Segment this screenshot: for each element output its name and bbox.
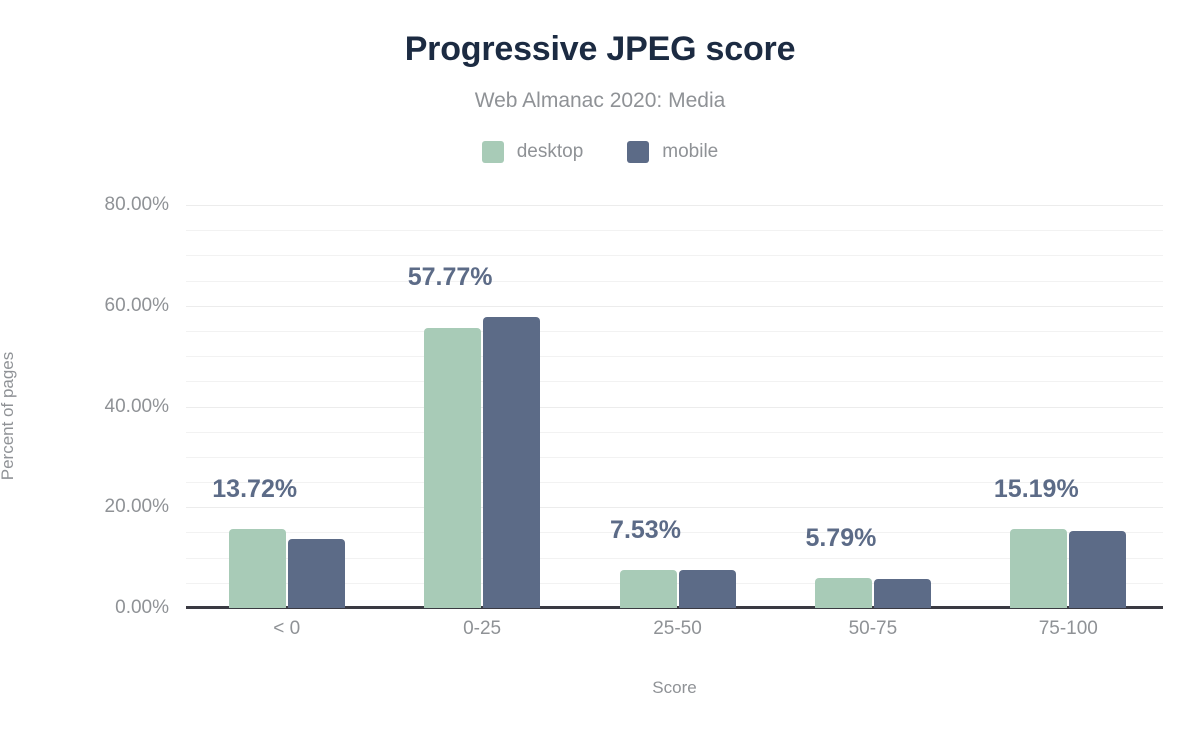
bars-layer bbox=[186, 205, 1163, 608]
y-axis-tick-label: 0.00% bbox=[0, 597, 169, 619]
legend-swatch-desktop bbox=[482, 141, 504, 163]
data-label-025: 57.77% bbox=[340, 263, 560, 292]
x-axis-tick-label: 50-75 bbox=[783, 618, 963, 640]
x-axis-tick-label: 75-100 bbox=[978, 618, 1158, 640]
bar-desktop-2550[interactable] bbox=[620, 570, 677, 608]
progressive-jpeg-score-chart: Progressive JPEG score Web Almanac 2020:… bbox=[0, 0, 1200, 742]
data-label-75100: 15.19% bbox=[926, 475, 1146, 504]
legend-item-desktop[interactable]: desktop bbox=[482, 141, 584, 163]
bar-mobile-025[interactable] bbox=[483, 317, 540, 608]
y-axis-tick-label: 20.00% bbox=[0, 496, 169, 518]
bar-mobile-0[interactable] bbox=[288, 539, 345, 608]
legend-label-desktop: desktop bbox=[517, 141, 584, 163]
data-label-0: 13.72% bbox=[145, 475, 365, 504]
data-label-5075: 5.79% bbox=[731, 524, 951, 553]
bar-desktop-5075[interactable] bbox=[815, 578, 872, 608]
chart-subtitle: Web Almanac 2020: Media bbox=[0, 89, 1200, 113]
y-axis-tick-label: 80.00% bbox=[0, 194, 169, 216]
y-axis-tick-label: 60.00% bbox=[0, 295, 169, 317]
bar-desktop-0[interactable] bbox=[229, 529, 286, 608]
legend-label-mobile: mobile bbox=[662, 141, 718, 163]
x-axis-tick-label: < 0 bbox=[197, 618, 377, 640]
chart-legend: desktop mobile bbox=[0, 141, 1200, 163]
legend-item-mobile[interactable]: mobile bbox=[627, 141, 718, 163]
y-axis-tick-label: 40.00% bbox=[0, 396, 169, 418]
y-axis-title: Percent of pages bbox=[0, 266, 18, 566]
x-axis-tick-label: 0-25 bbox=[392, 618, 572, 640]
legend-swatch-mobile bbox=[627, 141, 649, 163]
chart-title: Progressive JPEG score bbox=[0, 30, 1200, 69]
x-axis-tick-label: 25-50 bbox=[588, 618, 768, 640]
bar-mobile-75100[interactable] bbox=[1069, 531, 1126, 608]
bar-mobile-2550[interactable] bbox=[679, 570, 736, 608]
bar-desktop-75100[interactable] bbox=[1010, 529, 1067, 608]
x-axis-title: Score bbox=[186, 678, 1163, 698]
bar-mobile-5075[interactable] bbox=[874, 579, 931, 608]
bar-desktop-025[interactable] bbox=[424, 328, 481, 608]
data-label-2550: 7.53% bbox=[536, 516, 756, 545]
